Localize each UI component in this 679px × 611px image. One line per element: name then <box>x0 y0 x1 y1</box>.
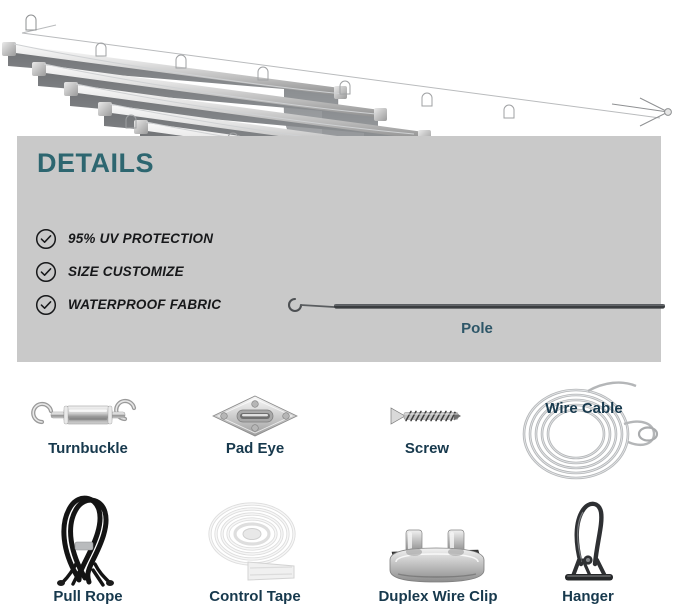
accessory-label: Wire Cable <box>496 400 672 417</box>
feature-item-uv-protection: 95% UV PROTECTION <box>35 222 335 255</box>
feature-item-size-customize: SIZE CUSTOMIZE <box>35 255 335 288</box>
pull-rope-icon <box>8 490 168 588</box>
accessory-control-tape: Control Tape <box>175 490 335 605</box>
pole-rod-icon <box>282 286 672 316</box>
accessory-hanger: Hanger <box>518 490 658 605</box>
accessory-label: Hanger <box>518 588 658 605</box>
accessory-label: Screw <box>347 440 507 457</box>
end-tensioner <box>612 98 671 126</box>
duplex-wire-clip-icon <box>358 490 518 588</box>
accessory-duplex-wire-clip: Duplex Wire Clip <box>358 490 518 605</box>
accessory-label: Control Tape <box>175 588 335 605</box>
accessory-screw: Screw <box>347 392 507 457</box>
feature-label: SIZE CUSTOMIZE <box>68 264 184 279</box>
accessory-label: Turnbuckle <box>8 440 168 457</box>
accessory-pad-eye: Pad Eye <box>175 392 335 457</box>
feature-label: 95% UV PROTECTION <box>68 231 213 246</box>
hanger-icon <box>518 490 658 588</box>
accessory-turnbuckle: Turnbuckle <box>8 392 168 457</box>
feature-label: WATERPROOF FABRIC <box>68 297 221 312</box>
accessory-label: Pad Eye <box>175 440 335 457</box>
start-tensioner <box>26 15 36 30</box>
pole-label: Pole <box>282 320 672 337</box>
screw-icon <box>347 392 507 440</box>
accessory-label: Duplex Wire Clip <box>358 588 518 605</box>
accessory-label: Pull Rope <box>8 588 168 605</box>
pole-figure: Pole <box>282 286 672 346</box>
accessory-pull-rope: Pull Rope <box>8 490 168 605</box>
check-circle-icon <box>35 261 57 283</box>
check-circle-icon <box>35 294 57 316</box>
details-panel: DETAILS 95% UV PROTECTION SIZE CUSTOMIZE <box>17 136 661 362</box>
details-title: DETAILS <box>37 148 154 179</box>
accessory-wire-cable: Wire Cable <box>496 378 672 417</box>
check-circle-icon <box>35 228 57 250</box>
pad-eye-icon <box>175 392 335 440</box>
control-tape-icon <box>175 490 335 588</box>
turnbuckle-icon <box>8 392 168 440</box>
